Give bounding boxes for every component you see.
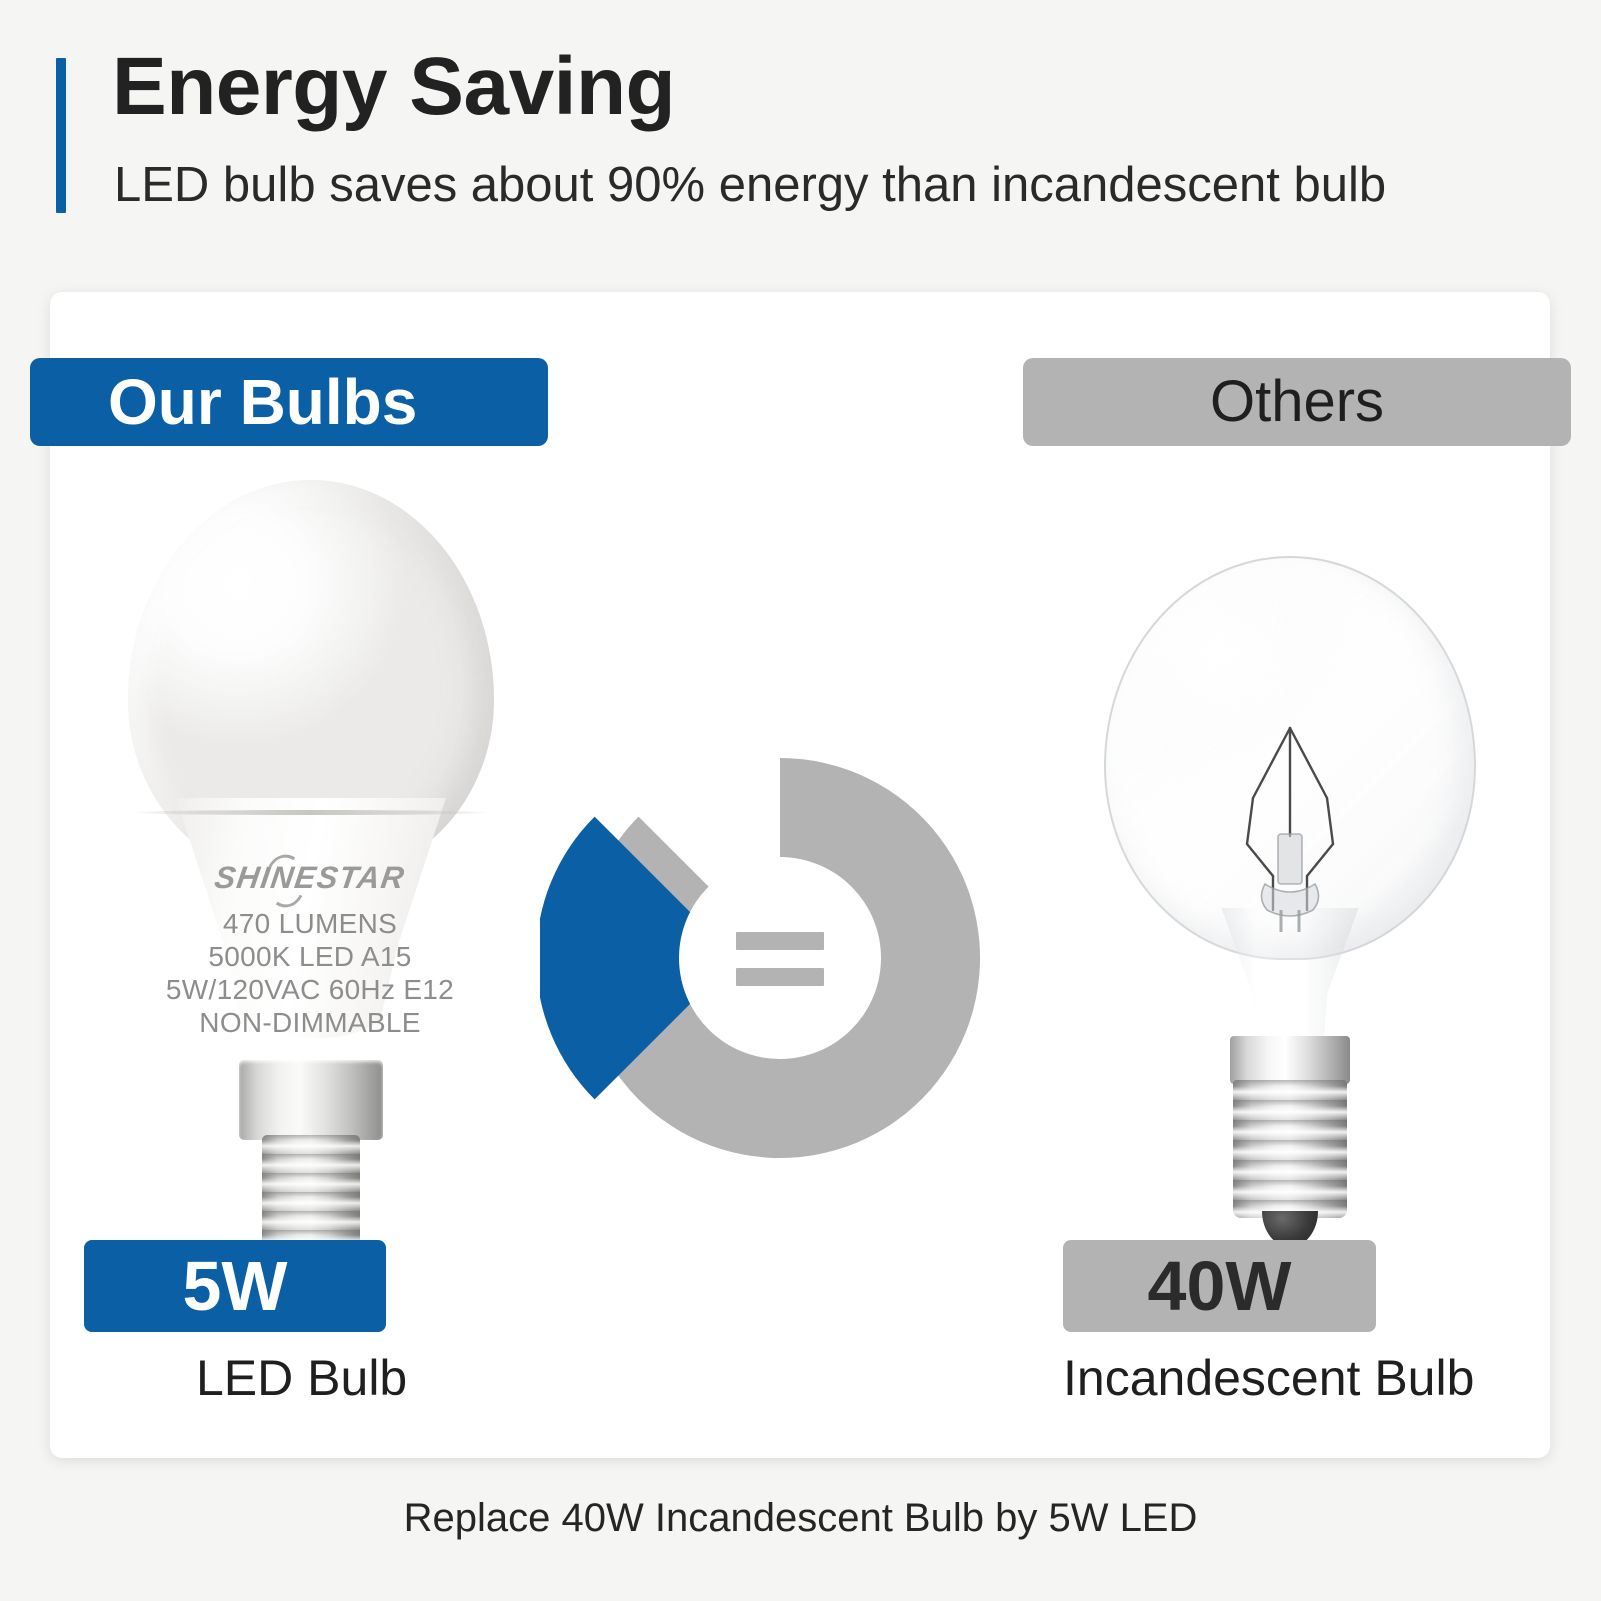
incandescent-bulb-screw-base (1233, 1080, 1347, 1218)
led-bulb-spec-electrical: 5W/120VAC 60Hz E12 (110, 973, 510, 1006)
badge-others: Others (1023, 358, 1571, 446)
badge-our-bulbs: Our Bulbs (30, 358, 548, 446)
caption-incandescent-bulb: Incandescent Bulb (1063, 1348, 1474, 1408)
watt-badge-led-label: 5W (183, 1251, 288, 1321)
page-title: Energy Saving (112, 38, 675, 136)
donut-center-hub (679, 857, 881, 1059)
accent-bar-icon (56, 58, 66, 213)
energy-donut-chart (540, 718, 1020, 1198)
caption-led-bulb: LED Bulb (196, 1348, 407, 1408)
led-bulb-spec-type: 5000K LED A15 (110, 940, 510, 973)
led-bulb-printing: SHINESTAR 470 LUMENS 5000K LED A15 5W/12… (110, 862, 510, 1039)
footer-note: Replace 40W Incandescent Bulb by 5W LED (0, 1494, 1601, 1542)
incandescent-bulb-graphic (1090, 556, 1490, 1256)
watt-badge-led: 5W (84, 1240, 386, 1332)
led-bulb-image: SHINESTAR 470 LUMENS 5000K LED A15 5W/12… (70, 470, 540, 1230)
led-bulb-spec-dimming: NON-DIMMABLE (110, 1006, 510, 1039)
led-bulb-base-collar (239, 1060, 383, 1140)
led-bulb-graphic: SHINESTAR 470 LUMENS 5000K LED A15 5W/12… (110, 480, 510, 1230)
led-bulb-spec-lumens: 470 LUMENS (110, 907, 510, 940)
incandescent-bulb-base-collar (1230, 1036, 1350, 1084)
watt-badge-incandescent-label: 40W (1148, 1251, 1292, 1321)
filament-icon (1229, 724, 1351, 932)
infographic-page: Energy Saving LED bulb saves about 90% e… (0, 0, 1601, 1601)
watt-badge-incandescent: 40W (1063, 1240, 1376, 1332)
brand-logo-text: SHINESTAR (212, 860, 407, 895)
incandescent-bulb-image (1050, 470, 1520, 1230)
page-subtitle: LED bulb saves about 90% energy than inc… (114, 156, 1386, 215)
badge-our-bulbs-label: Our Bulbs (30, 370, 417, 434)
brand-logo: SHINESTAR (108, 862, 512, 893)
badge-others-label: Others (1210, 373, 1384, 431)
header: Energy Saving LED bulb saves about 90% e… (56, 52, 1536, 222)
led-bulb-seam (130, 810, 492, 815)
